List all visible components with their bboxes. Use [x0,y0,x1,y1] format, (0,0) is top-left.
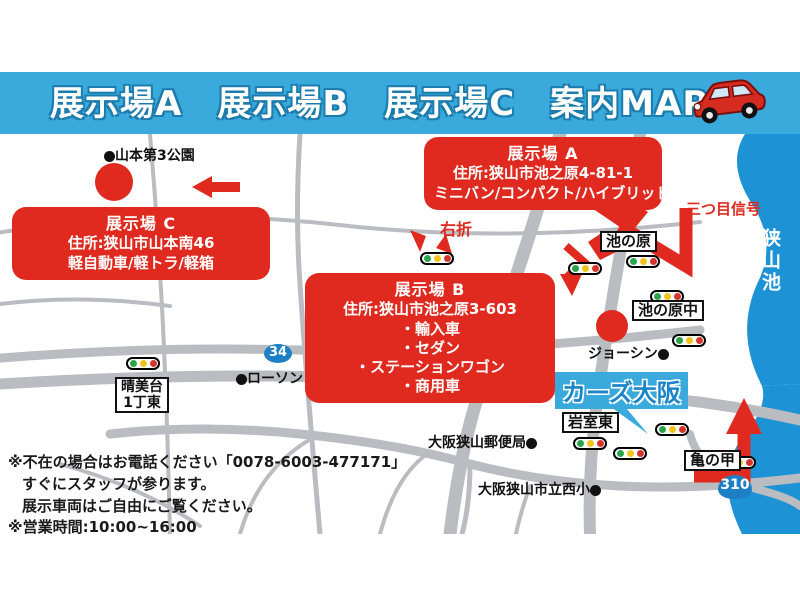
callout-a-types: ミニバン/コンパクト/ハイブリッド [434,184,652,203]
annotation-turn-right: 右折 [440,216,472,240]
callout-b-item-3: ・商用車 [315,377,545,396]
callout-a-address: 住所:狭山市池之原4-81-1 [434,164,652,183]
route-arrow-west [192,176,240,198]
note-line-4: ※営業時間:10:00~16:00 [8,517,406,539]
car-icon [686,74,770,128]
route-node-b [596,310,628,342]
callout-c-address: 住所:狭山市山本南46 [22,234,260,253]
note-line-3: 展示車両はご自由にご覧ください。 [8,496,406,518]
note-line-2: すぐにスタッフが参ります。 [8,474,406,496]
lake-label: 狭山池 [757,228,784,294]
traffic-signal-icon [672,334,706,347]
poi-yamamoto-park: 山本第3公園 [104,145,195,165]
callout-exhibition-a[interactable]: 展示場 A 住所:狭山市池之原4-81-1 ミニバン/コンパクト/ハイブリッド [424,137,662,210]
note-line-1: ※不在の場合はお電話ください「0078-6003-477171」 [8,452,406,474]
poi-dot-icon [590,485,601,496]
callout-exhibition-b[interactable]: 展示場 B 住所:狭山市池之原3-603 ・輸入車 ・セダン ・ステーションワゴ… [305,273,555,403]
poi-dot-icon [236,374,247,385]
traffic-signal-icon [655,423,689,436]
route-badge-34: 34 [264,344,292,363]
traffic-signal-icon [573,437,607,450]
intersection-iwamurohigashi: 岩室東 [562,412,619,433]
callout-c-title: 展示場 C [22,214,260,234]
poi-lawson: ローソン [236,368,303,388]
traffic-signal-icon [613,447,647,460]
callout-b-item-1: ・セダン [315,339,545,358]
footer-notes: ※不在の場合はお電話ください「0078-6003-477171」 すぐにスタッフ… [8,452,406,539]
poi-nishi-elementary: 大阪狭山市立西小 [478,479,601,499]
route-badge-310: 310 [718,475,752,499]
intersection-harumidai: 晴美台 1丁東 [115,377,169,413]
map-flyer: 展示場A 展示場B 展示場C 案内MAP [0,0,800,600]
poi-dot-icon [526,438,537,449]
destination-label-cars-osaka[interactable]: カーズ大阪 [555,372,688,409]
intersection-ikenohara: 池の原 [600,231,657,252]
poi-post-office: 大阪狭山郵便局 [428,432,537,452]
callout-b-item-0: ・輸入車 [315,320,545,339]
annotation-third-signal: 三つ目信号 [686,198,761,219]
callout-c-types: 軽自動車/軽トラ/軽箱 [22,254,260,273]
poi-dot-icon [658,349,669,360]
intersection-ikenoharanaka: 池の原中 [632,300,704,321]
page-title: 展示場A 展示場B 展示場C 案内MAP [50,76,708,125]
poi-dot-icon [104,151,115,162]
callout-b-title: 展示場 B [315,280,545,300]
callout-b-item-2: ・ステーションワゴン [315,358,545,377]
route-arrowhead-south [560,274,582,296]
callout-exhibition-c[interactable]: 展示場 C 住所:狭山市山本南46 軽自動車/軽トラ/軽箱 [12,207,270,280]
callout-a-title: 展示場 A [434,144,652,164]
traffic-signal-icon [626,255,660,268]
traffic-signal-icon [568,262,602,275]
route-node-c [95,163,133,201]
traffic-signal-icon [126,357,160,370]
callout-b-address: 住所:狭山市池之原3-603 [315,300,545,319]
poi-joshin: ジョーシン [588,343,669,363]
traffic-signal-icon [420,252,454,265]
intersection-kamenoko: 亀の甲 [684,450,741,471]
